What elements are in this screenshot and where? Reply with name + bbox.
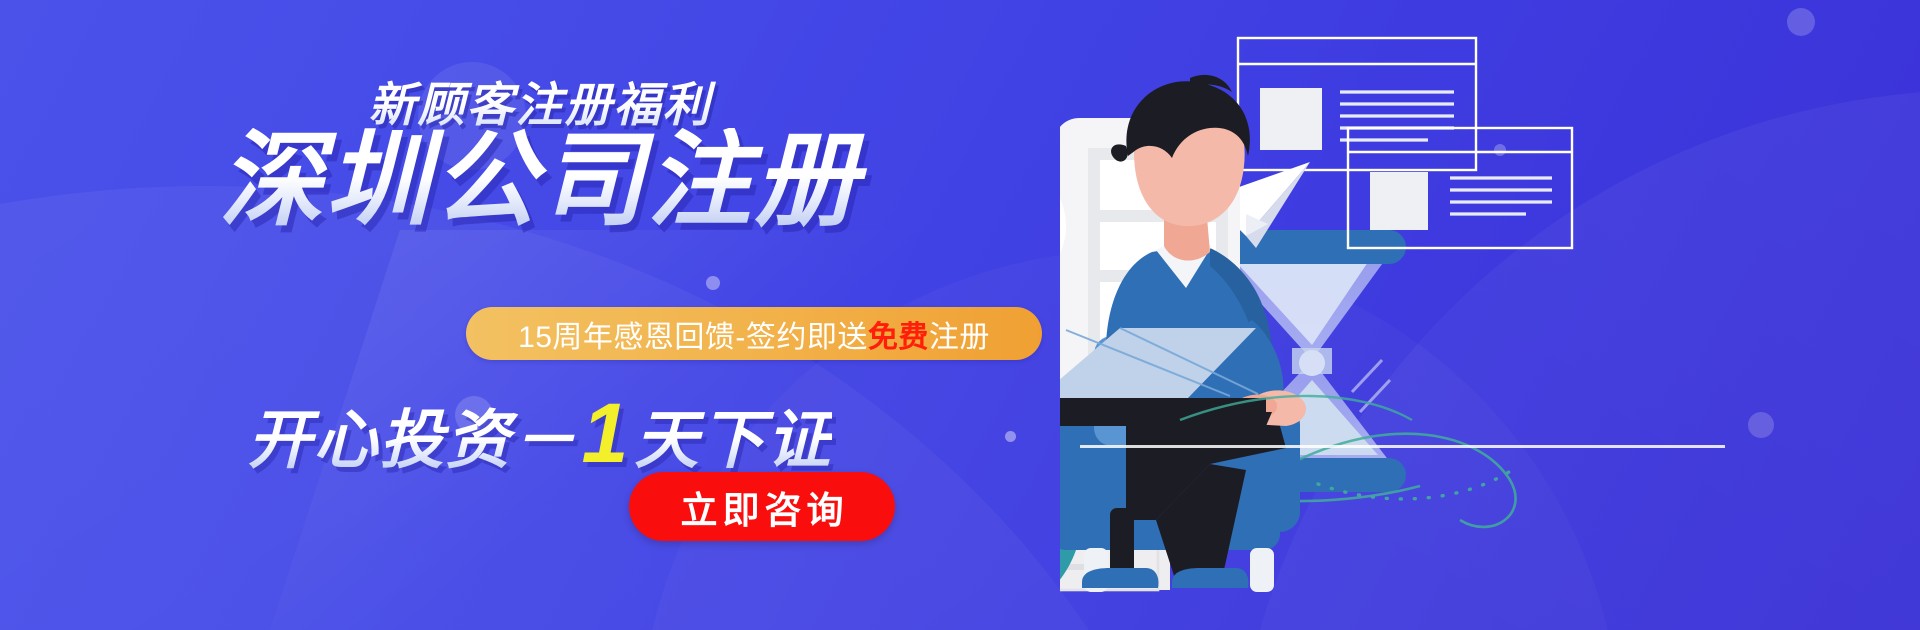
offer-badge-prefix: 15周年感恩回馈-签约即送	[518, 312, 868, 356]
offer-badge-highlight: 免费	[868, 312, 929, 356]
promo-copy-block: 新顾客注册福利 深圳公司注册 15周年感恩回馈-签约即送免费注册 开心投资－1天…	[0, 0, 1080, 630]
document-card-back	[1238, 38, 1476, 170]
offer-badge-suffix: 注册	[929, 312, 990, 356]
promo-banner: 新顾客注册福利 深圳公司注册 15周年感恩回馈-签约即送免费注册 开心投资－1天…	[0, 0, 1920, 630]
offer-badge-text: 15周年感恩回馈-签约即送免费注册	[518, 312, 990, 356]
subheadline-number: 1	[578, 386, 635, 480]
headline-text: 深圳公司注册	[0, 128, 1080, 234]
floor-line	[1080, 445, 1725, 448]
offer-badge: 15周年感恩回馈-签约即送免费注册	[466, 307, 1042, 360]
subheadline-text: 开心投资－1天下证	[0, 385, 1080, 482]
man-working-on-laptop-illustration	[1060, 0, 1920, 630]
document-card-front	[1348, 128, 1572, 248]
subheadline-lead: 开心投资－	[248, 404, 578, 476]
subheadline-trail: 天下证	[634, 404, 832, 476]
consult-now-button[interactable]: 立即咨询	[629, 472, 895, 541]
